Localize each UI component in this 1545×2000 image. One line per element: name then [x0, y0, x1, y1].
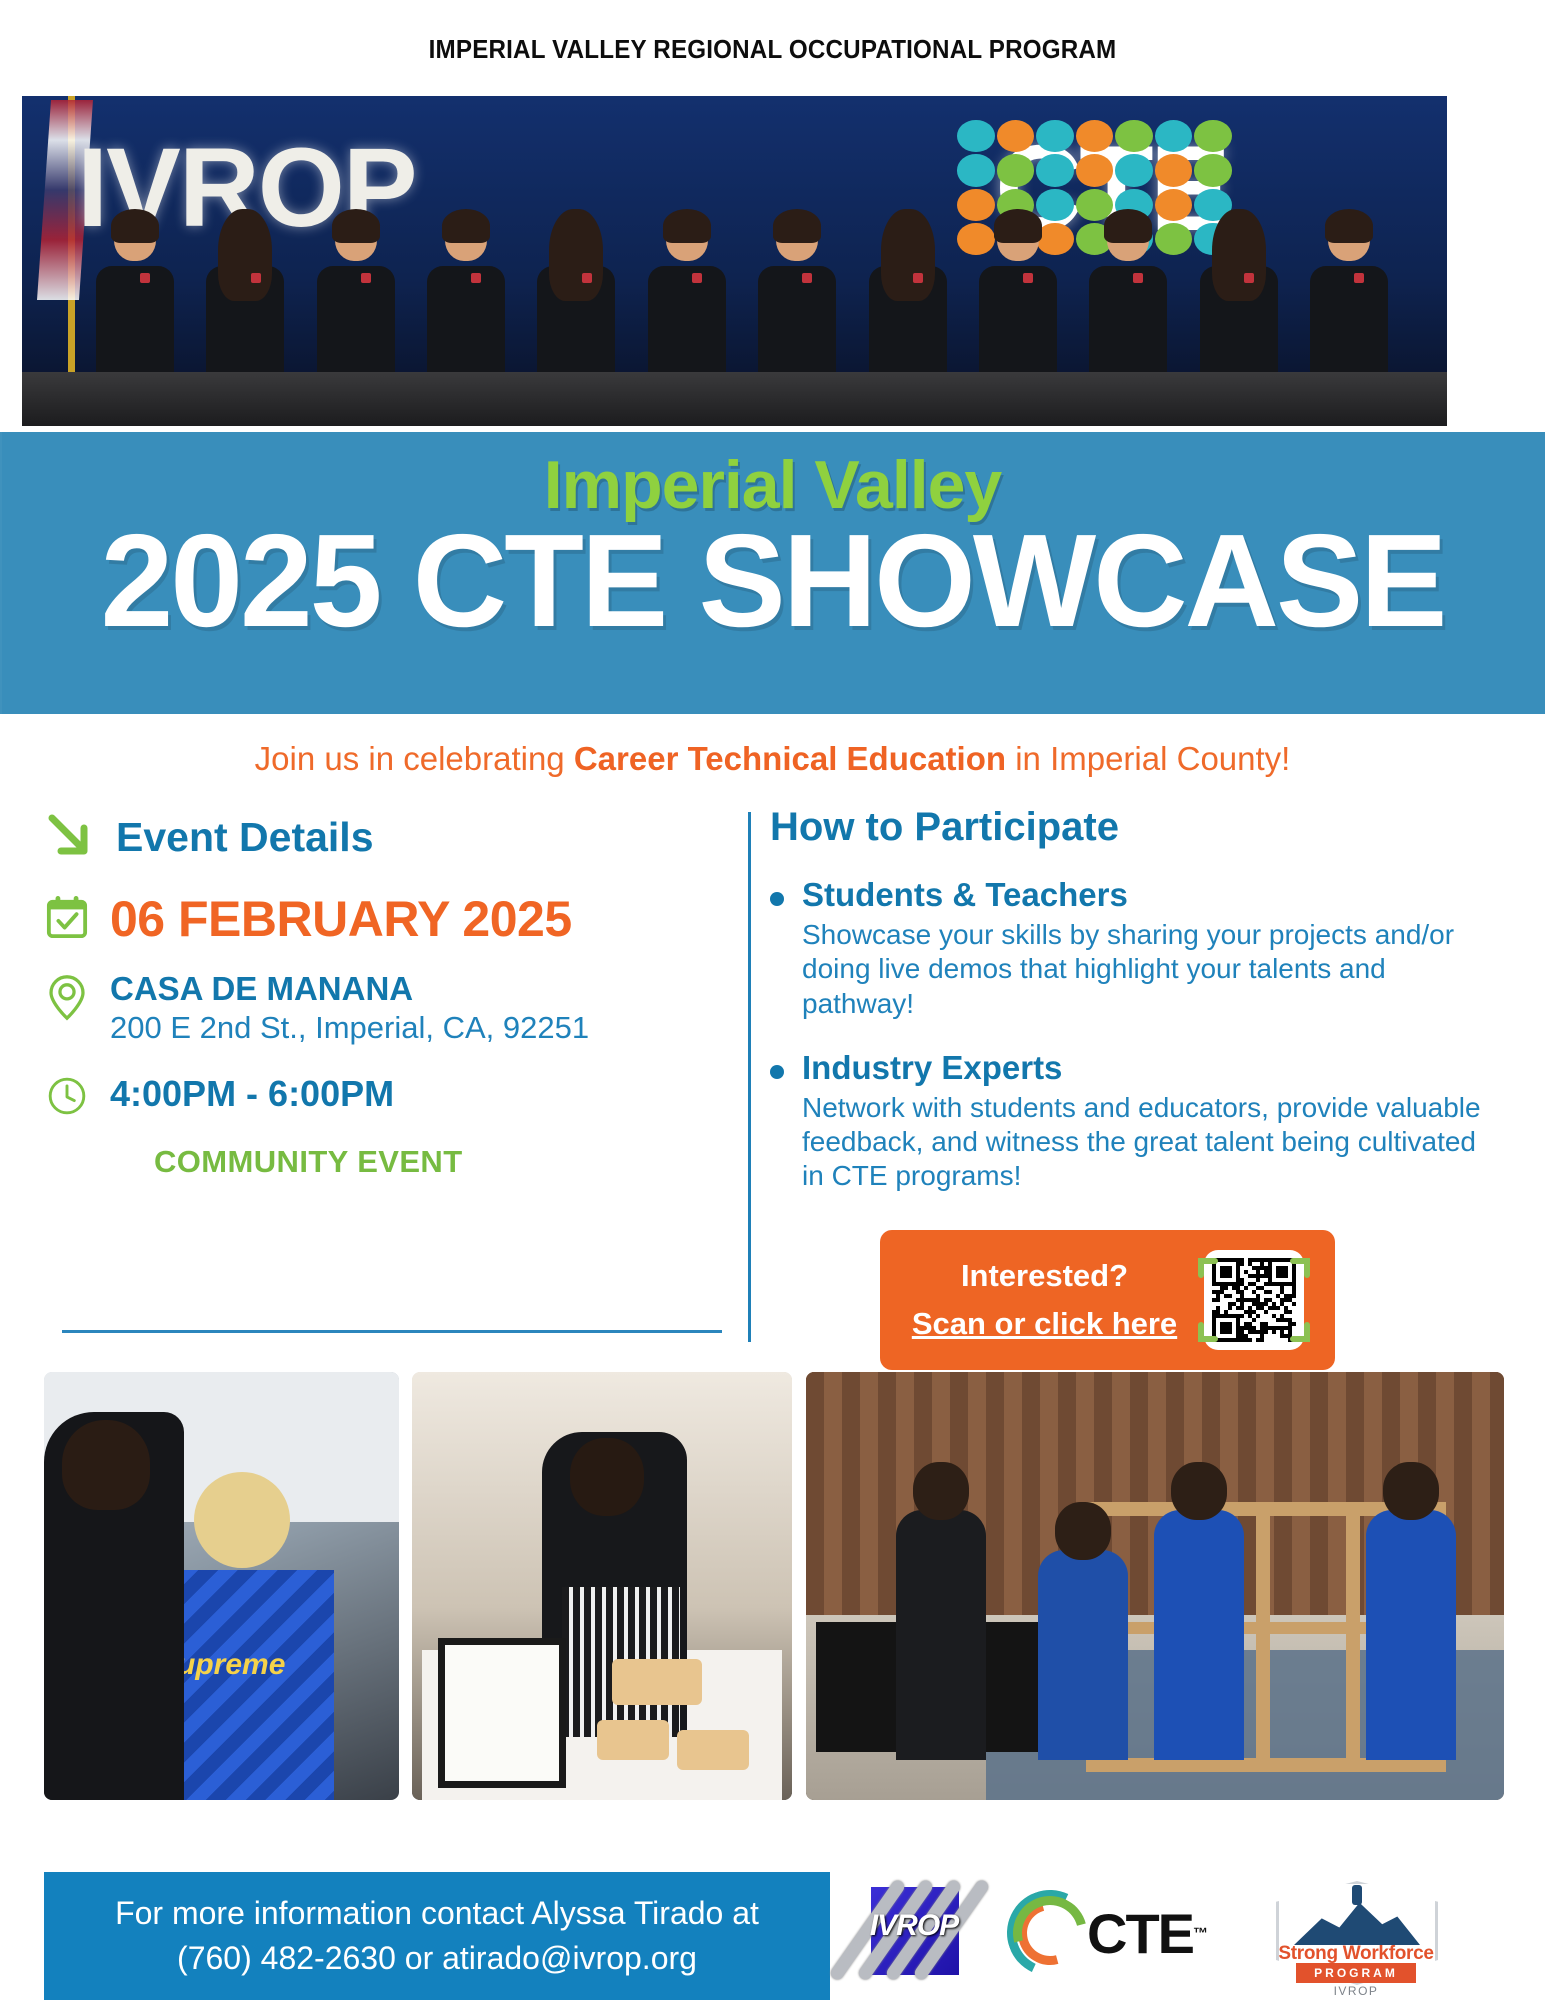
swp-subtitle: IVROP	[1256, 1984, 1456, 1998]
tagline: Join us in celebrating Career Technical …	[0, 740, 1545, 778]
ivrop-logo: IVROP	[855, 1877, 973, 1989]
barbering-client-head	[194, 1472, 290, 1568]
construction-student	[1154, 1510, 1244, 1760]
bullet-dot-icon	[770, 892, 784, 906]
arrow-down-right-icon	[44, 810, 98, 864]
cta-scan-link[interactable]: Scan or click here	[898, 1306, 1191, 1342]
cte-logo: CTE ™	[1007, 1887, 1222, 1979]
cte-trademark: ™	[1193, 1925, 1208, 1942]
strong-workforce-logo: Strong Workforce PROGRAM IVROP	[1256, 1877, 1456, 1989]
map-pin-icon	[44, 970, 90, 1021]
event-address: 200 E 2nd St., Imperial, CA, 92251	[110, 1009, 589, 1046]
culinary-certificate-frame	[438, 1638, 566, 1788]
tagline-after: in Imperial County!	[1006, 740, 1290, 777]
bullet-dot-icon	[770, 1065, 784, 1079]
culinary-plate	[677, 1730, 749, 1770]
stage-floor	[22, 372, 1447, 426]
cte-swirl-icon	[1007, 1890, 1093, 1976]
page-title: IMPERIAL VALLEY REGIONAL OCCUPATIONAL PR…	[54, 34, 1491, 65]
event-time: 4:00PM - 6:00PM	[110, 1072, 394, 1112]
list-item: Students & Teachers Showcase your skills…	[770, 874, 1500, 1021]
barbering-student-head	[62, 1420, 150, 1510]
climber-icon	[1352, 1885, 1362, 1905]
tagline-highlight: Career Technical Education	[574, 740, 1006, 777]
cta-line1: Interested?	[898, 1258, 1191, 1294]
qr-code-icon[interactable]	[1191, 1241, 1317, 1359]
culinary-plate	[612, 1659, 702, 1705]
participate-item-body: Network with students and educators, pro…	[802, 1091, 1500, 1193]
event-venue: CASA DE MANANA	[110, 970, 589, 1009]
swp-program: PROGRAM	[1296, 1963, 1416, 1983]
cte-logo-text: CTE	[1087, 1901, 1193, 1966]
event-location-text: CASA DE MANANA 200 E 2nd St., Imperial, …	[110, 970, 589, 1046]
clock-icon	[44, 1072, 90, 1116]
flyer-page: IMPERIAL VALLEY REGIONAL OCCUPATIONAL PR…	[0, 0, 1545, 2000]
construction-student	[1038, 1550, 1128, 1760]
list-item: Industry Experts Network with students a…	[770, 1047, 1500, 1194]
photo-barbering: Supreme	[44, 1372, 399, 1800]
column-divider	[748, 812, 751, 1342]
event-time-row: 4:00PM - 6:00PM	[44, 1072, 744, 1116]
hero-photo: IVROP CTE	[22, 96, 1447, 426]
ivrop-logo-text: IVROP	[855, 1909, 973, 1943]
photo-culinary	[412, 1372, 792, 1800]
culinary-student-head	[570, 1438, 644, 1516]
how-to-participate-section: How to Participate Students & Teachers S…	[770, 805, 1500, 1219]
event-title: 2025 CTE SHOWCASE	[8, 512, 1538, 651]
event-location-row: CASA DE MANANA 200 E 2nd St., Imperial, …	[44, 970, 744, 1046]
contact-line-2: (760) 482-2630 or atirado@ivrop.org	[177, 1941, 697, 1976]
partner-logos: IVROP CTE ™ Strong Workforce PROGRAM IVR…	[855, 1866, 1515, 2000]
culinary-plate	[597, 1720, 669, 1760]
event-date-row: 06 FEBRUARY 2025	[44, 892, 744, 944]
participate-item-body: Showcase your skills by sharing your pro…	[802, 918, 1500, 1020]
qr-frame-brackets	[1191, 1241, 1317, 1359]
title-band: Imperial Valley 2025 CTE SHOWCASE	[0, 432, 1545, 714]
construction-student-head	[1055, 1502, 1111, 1560]
event-date: 06 FEBRUARY 2025	[110, 892, 572, 944]
construction-student	[1366, 1510, 1456, 1760]
photo-gallery: Supreme	[44, 1372, 1504, 1812]
construction-student-head	[913, 1462, 969, 1520]
calendar-check-icon	[44, 892, 90, 940]
left-column-divider	[62, 1330, 722, 1333]
status-badge: COMMUNITY EVENT	[154, 1144, 744, 1180]
event-details-section: Event Details 06 FEBRUARY 2025	[44, 810, 744, 1180]
contact-line-1: For more information contact Alyssa Tira…	[115, 1896, 759, 1931]
participate-item-title: Industry Experts	[802, 1047, 1500, 1088]
construction-student	[896, 1510, 986, 1760]
contact-footer: For more information contact Alyssa Tira…	[44, 1872, 830, 2000]
event-details-header: Event Details	[44, 810, 744, 864]
tagline-before: Join us in celebrating	[255, 740, 574, 777]
swp-title: Strong Workforce	[1256, 1943, 1456, 1965]
participate-heading: How to Participate	[770, 805, 1500, 850]
event-details-heading: Event Details	[116, 814, 374, 861]
interested-cta-button[interactable]: Interested? Scan or click here	[880, 1230, 1335, 1370]
photo-construction	[806, 1372, 1504, 1800]
construction-student-head	[1171, 1462, 1227, 1520]
construction-student-head	[1383, 1462, 1439, 1520]
barbering-student	[44, 1412, 184, 1800]
participate-item-title: Students & Teachers	[802, 874, 1500, 915]
